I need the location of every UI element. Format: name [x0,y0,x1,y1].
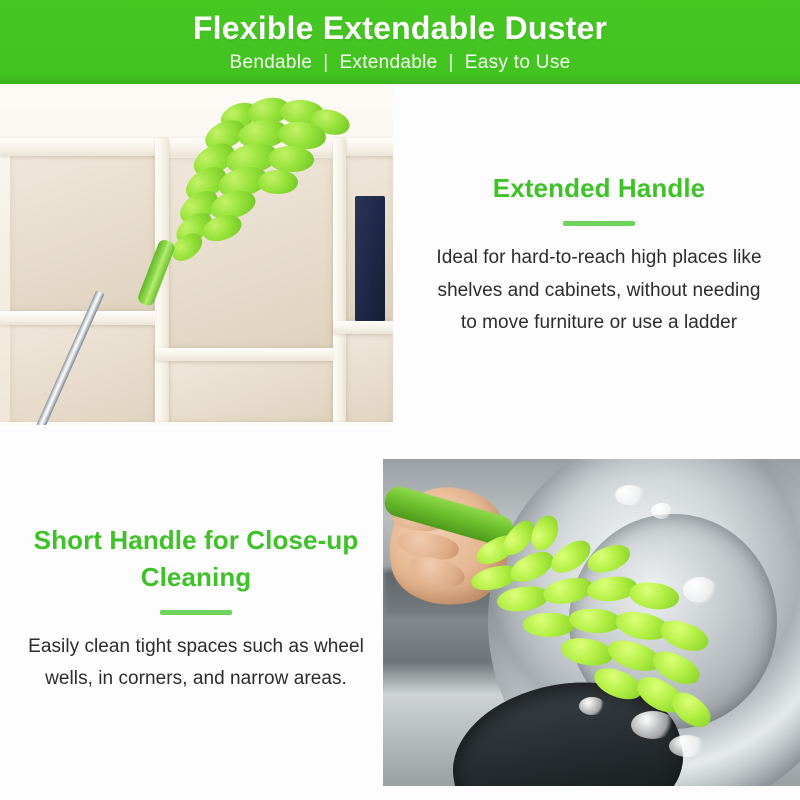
feature-extended-handle: Extended Handle Ideal for hard-to-reach … [404,170,794,340]
shelf-divider [0,422,393,425]
banner-subtitle-item-3: Easy to Use [465,52,571,74]
duster-brush-head [469,521,729,731]
banner-subtitle: Bendable | Extendable | Easy to Use [229,52,570,74]
feature-body-line: shelves and cabinets, without needing [404,275,794,308]
duster-tuft [258,170,298,194]
brush-tuft [523,613,575,637]
feature-body-line: Easily clean tight spaces such as wheel [8,631,384,664]
brush-tuft [568,607,622,635]
shelf-cell [346,334,393,425]
shelf-divider [333,321,393,334]
feature-body-line: to move furniture or use a ladder [404,307,794,340]
feature-body: Ideal for hard-to-reach high places like… [404,242,794,340]
header-banner: Flexible Extendable Duster Bendable | Ex… [0,0,800,84]
banner-subtitle-item-1: Bendable [229,52,312,74]
shelf-divider [155,348,333,361]
brush-tuft [496,583,551,614]
brush-tuft [559,635,615,670]
shelf-divider [0,311,155,325]
brush-tuft [627,580,680,613]
feature-rule [160,610,232,615]
banner-subtitle-item-2: Extendable [339,52,437,74]
feature-rule [563,221,635,226]
feature-title: Short Handle for Close-up Cleaning [8,522,384,596]
feature-short-handle: Short Handle for Close-up Cleaning Easil… [8,522,384,696]
shelf-cell [10,156,155,311]
shelf-cell [168,361,333,423]
feature-title: Extended Handle [404,170,794,207]
shelf-book [355,196,385,321]
soap-sud [615,485,645,505]
brush-tuft [584,540,634,578]
soap-sud [651,503,673,519]
banner-subtitle-separator-1: | [323,52,328,74]
shelf-scene [0,86,393,425]
banner-subtitle-separator-2: | [449,52,454,74]
soap-sud [669,735,705,757]
photo-wheel-cleaning [383,459,800,786]
feature-body: Easily clean tight spaces such as wheel … [8,631,384,696]
feature-title-line: Short Handle for [34,525,239,555]
feature-body-line: wells, in corners, and narrow areas. [8,663,384,696]
duster-head [168,98,343,258]
duster-tuft [268,145,315,173]
banner-title: Flexible Extendable Duster [193,12,607,46]
feature-body-line: Ideal for hard-to-reach high places like [404,242,794,275]
photo-shelf-duster [0,86,393,425]
